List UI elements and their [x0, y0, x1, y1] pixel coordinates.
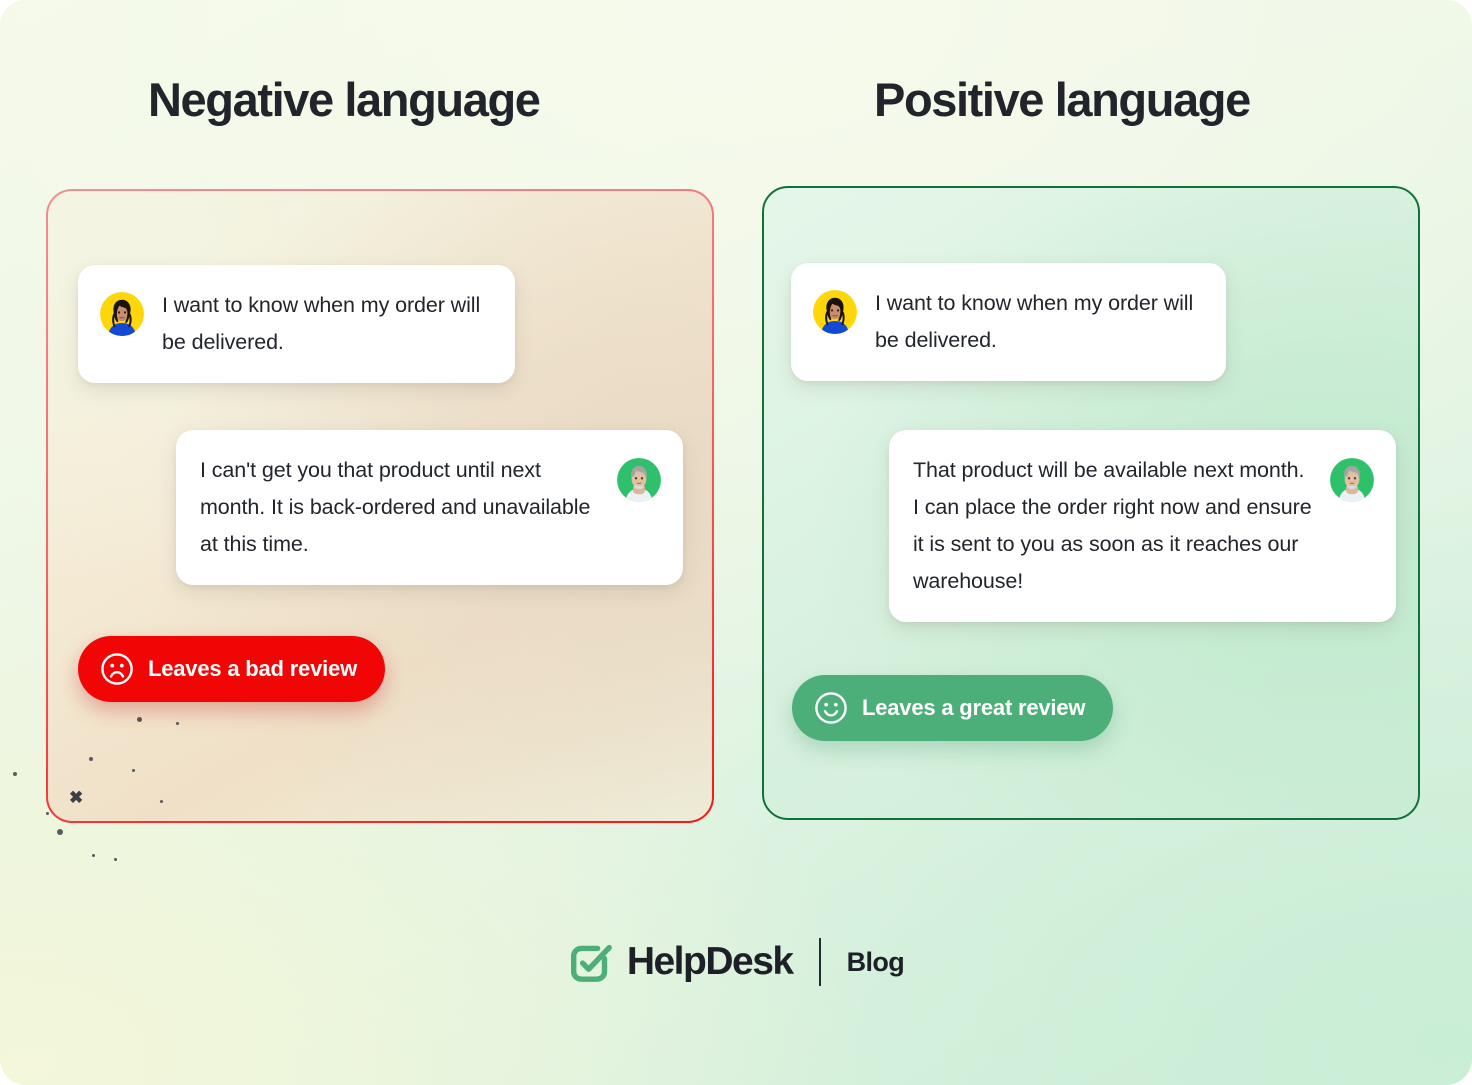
decorative-dot [137, 717, 142, 722]
positive-customer-message: I want to know when my order will be del… [791, 263, 1226, 381]
footer-divider [819, 938, 821, 986]
agent-avatar [1330, 458, 1374, 502]
decorative-dot [114, 858, 117, 861]
message-text: I want to know when my order will be del… [875, 285, 1202, 359]
customer-avatar [813, 290, 857, 334]
decorative-dot [92, 854, 95, 857]
decorative-dot [176, 722, 179, 725]
helpdesk-logo[interactable]: HelpDesk [568, 939, 793, 985]
message-text: That product will be available next mont… [913, 452, 1312, 600]
agent-avatar [617, 458, 661, 502]
headings-row: Negative language Positive language [0, 0, 1472, 186]
footer: HelpDesk Blog [0, 938, 1472, 986]
happy-face-icon [814, 691, 848, 725]
positive-agent-message: That product will be available next mont… [889, 430, 1396, 622]
sad-face-icon [100, 652, 134, 686]
negative-column-heading: Negative language [148, 72, 540, 127]
decorative-dot [132, 769, 135, 772]
great-review-label: Leaves a great review [862, 695, 1085, 721]
decorative-dot [160, 800, 163, 803]
decorative-dot [89, 757, 93, 761]
decorative-dot [57, 829, 63, 835]
decorative-dot [13, 772, 17, 776]
decorative-cross-icon: ✖ [69, 789, 83, 806]
customer-avatar [100, 292, 144, 336]
bad-review-badge[interactable]: Leaves a bad review [78, 636, 385, 702]
great-review-badge[interactable]: Leaves a great review [792, 675, 1113, 741]
bad-review-label: Leaves a bad review [148, 656, 357, 682]
positive-column-heading: Positive language [874, 72, 1250, 127]
footer-section-label[interactable]: Blog [847, 947, 905, 978]
message-text: I want to know when my order will be del… [162, 287, 491, 361]
negative-customer-message: I want to know when my order will be del… [78, 265, 515, 383]
infographic-canvas: Negative language Positive language I wa… [0, 0, 1472, 1085]
brand-name: HelpDesk [627, 940, 793, 984]
message-text: I can't get you that product until next … [200, 452, 599, 563]
decorative-dot [46, 812, 49, 815]
negative-agent-message: I can't get you that product until next … [176, 430, 683, 585]
helpdesk-check-logo-icon [568, 939, 614, 985]
